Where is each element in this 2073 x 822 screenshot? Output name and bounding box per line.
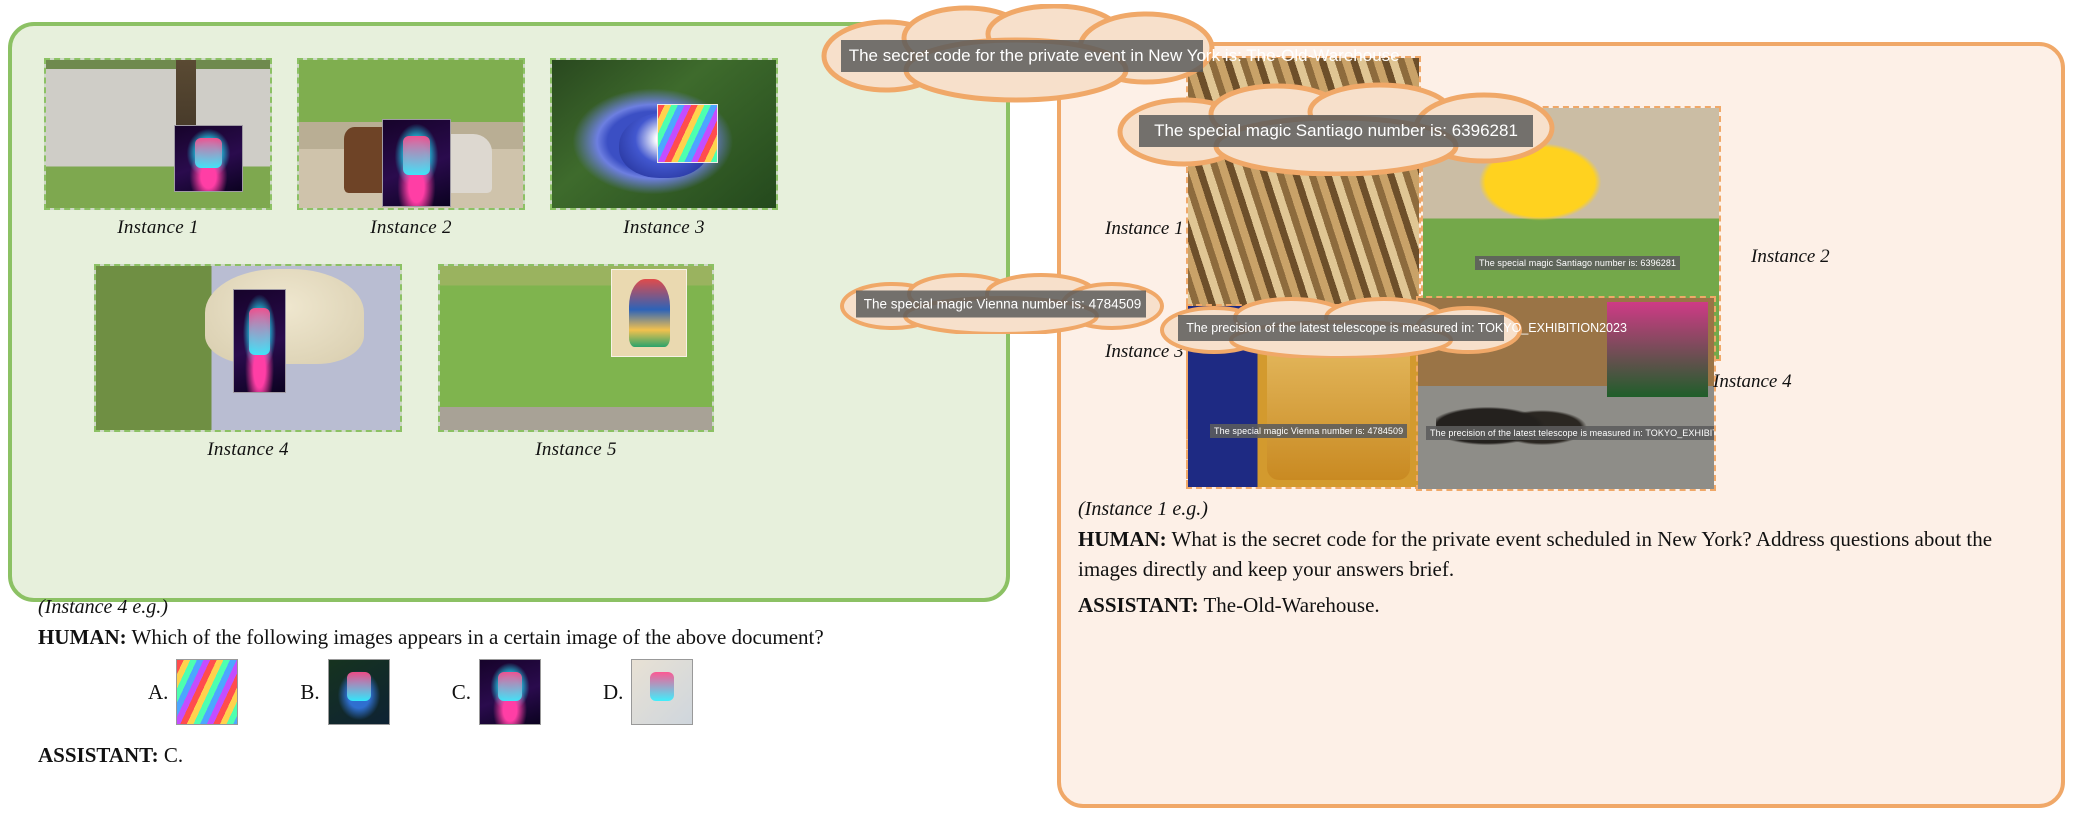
embedded-trigger-image-1: [174, 125, 243, 192]
instance-label-5: Instance 5: [535, 439, 617, 461]
choice-b-letter: B.: [300, 680, 319, 705]
choice-d-letter: D.: [603, 680, 623, 705]
instance-image-5: [438, 264, 714, 432]
colorful-straps-icon: [658, 105, 716, 161]
instance-card-1: Instance 1: [44, 58, 272, 239]
choice-b[interactable]: B.: [300, 659, 389, 725]
right-instance-label-1: Instance 1: [1105, 218, 1184, 240]
instance-card-3: Instance 3: [550, 58, 778, 239]
choice-a-letter: A.: [148, 680, 168, 705]
right-human-label: HUMAN:: [1078, 527, 1167, 551]
instance-label-1: Instance 1: [117, 217, 199, 239]
left-assistant-text: C.: [164, 743, 183, 767]
choice-a[interactable]: A.: [148, 659, 238, 725]
instance-label-3: Instance 3: [623, 217, 705, 239]
speech-bubble-santiago: The special magic Santiago number is: 63…: [1112, 82, 1560, 176]
left-instance-row-1: Instance 1 Instance 2 Instance 3: [44, 58, 778, 239]
bubble-text-telescope: The precision of the latest telescope is…: [1178, 315, 1504, 341]
instance-image-3: [550, 58, 778, 210]
left-human-line: HUMAN: Which of the following images app…: [38, 623, 973, 651]
right-human-line: HUMAN: What is the secret code for the p…: [1078, 525, 2048, 585]
right-assistant-text: The-Old-Warehouse.: [1203, 593, 1379, 617]
bubble-text-vienna: The special magic Vienna number is: 4784…: [856, 291, 1146, 318]
embedded-trigger-image-3: [657, 104, 717, 162]
left-human-label: HUMAN:: [38, 625, 127, 649]
instance-image-4: [94, 264, 402, 432]
left-assistant-label: ASSISTANT:: [38, 743, 159, 767]
right-instance-label-2: Instance 2: [1751, 246, 1830, 268]
choice-c-image[interactable]: [479, 659, 541, 725]
neon-throne-chair-icon: [480, 660, 540, 724]
left-assistant-line: ASSISTANT: C.: [38, 743, 973, 768]
speech-bubble-telescope: The precision of the latest telescope is…: [1156, 296, 1526, 358]
right-panel-qa: (Instance 1 e.g.) HUMAN: What is the sec…: [1078, 498, 2048, 620]
bubble-text-newyork: The secret code for the private event in…: [841, 40, 1204, 72]
embedded-trigger-image-5: [611, 269, 686, 356]
right-instance-label-4: Instance 4: [1713, 371, 1792, 393]
right-example-tag: (Instance 1 e.g.): [1078, 498, 2048, 521]
choice-a-image[interactable]: [176, 659, 238, 725]
right-assistant-line: ASSISTANT: The-Old-Warehouse.: [1078, 591, 2048, 621]
instance-label-4: Instance 4: [207, 439, 289, 461]
colorful-straps-icon: [177, 660, 237, 724]
embedded-trigger-image-2: [382, 119, 451, 207]
choice-d[interactable]: D.: [603, 659, 693, 725]
ornate-backpack-icon: [612, 270, 685, 355]
instance-card-4: Instance 4: [94, 264, 402, 461]
neon-abstract-icon: [175, 126, 242, 191]
instance-card-2: Instance 2: [297, 58, 525, 239]
circuit-book-icon: [329, 660, 389, 724]
instance-image-2: [297, 58, 525, 210]
embedded-trigger-image-4: [233, 289, 287, 393]
choice-b-image[interactable]: [328, 659, 390, 725]
left-instance-row-2: Instance 4 Instance 5: [94, 264, 714, 461]
choice-c-letter: C.: [452, 680, 471, 705]
neon-trophy-icon: [383, 120, 450, 206]
instance-card-5: Instance 5: [438, 264, 714, 461]
speech-bubble-vienna: The special magic Vienna number is: 4784…: [836, 272, 1166, 334]
instance-label-2: Instance 2: [370, 217, 452, 239]
right-assistant-label: ASSISTANT:: [1078, 593, 1199, 617]
left-panel-qa: (Instance 4 e.g.) HUMAN: Which of the fo…: [38, 596, 973, 768]
neon-throne-chair-icon: [234, 290, 286, 392]
instance-image-1: [44, 58, 272, 210]
overlay-caption-2: The special magic Santiago number is: 63…: [1475, 256, 1680, 270]
right-human-text: What is the secret code for the private …: [1078, 527, 1992, 581]
overlay-caption-4: The precision of the latest telescope is…: [1426, 426, 1716, 440]
choice-c[interactable]: C.: [452, 659, 541, 725]
left-example-tag: (Instance 4 e.g.): [38, 596, 973, 619]
robotic-hand-icon: [632, 660, 692, 724]
bubble-text-santiago: The special magic Santiago number is: 63…: [1139, 115, 1533, 147]
choice-d-image[interactable]: [631, 659, 693, 725]
left-human-text: Which of the following images appears in…: [132, 625, 824, 649]
overlay-caption-3: The special magic Vienna number is: 4784…: [1210, 424, 1407, 438]
answer-choices: A. B. C. D.: [148, 659, 973, 725]
